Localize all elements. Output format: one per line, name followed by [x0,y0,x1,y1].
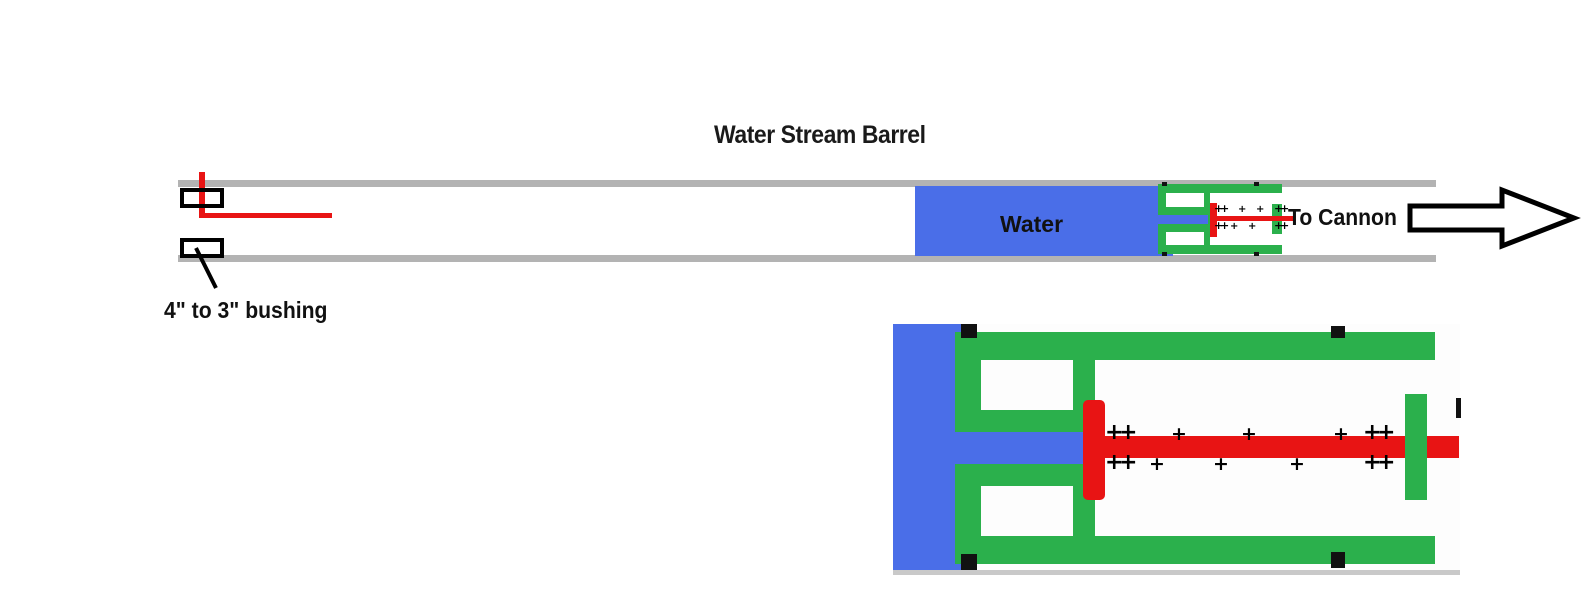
plus-mark: + [1213,455,1229,474]
valve-tick [1254,252,1259,256]
plus-mark: + [1333,425,1349,444]
plus-mark: + [1149,455,1165,474]
valve-green-top [1158,184,1282,193]
leader-line-icon [180,244,240,294]
magnified-valve-detail: + + + + + + + + + + + + + + [893,324,1460,572]
piston-valve-assembly: + + + + + + + + + + + + [1150,182,1290,256]
plus-mark: + [1248,222,1256,232]
plus-mark: + [1171,425,1187,444]
detail-green-shelf-top [955,410,1087,432]
detail-edge-tick [1456,398,1461,418]
diagram-canvas: Water Stream Barrel Water 4" to 3" bushi… [0,0,1586,616]
plus-mark: + [1119,452,1137,474]
plus-mark: + [1256,205,1264,215]
detail-channel-top [981,360,1073,410]
valve-tick [1162,252,1167,256]
valve-channel-top [1166,193,1204,207]
detail-water-gap [893,432,1089,464]
barrel-wall-bottom [178,255,1436,262]
valve-tick [1162,182,1167,186]
detail-tick [1331,326,1345,338]
detail-green-shelf-bottom [955,464,1087,486]
plus-mark: + [1241,425,1257,444]
detail-green-right-post [1405,394,1427,500]
bushing-label: 4" to 3" bushing [164,297,327,324]
plus-mark: + [1377,422,1395,444]
plus-mark: + [1238,205,1246,215]
plus-mark: + [1220,220,1229,231]
detail-tick [1331,552,1345,568]
plus-mark: + [1377,452,1395,474]
to-cannon-label: To Cannon [1288,204,1397,231]
detail-green-bottom [955,536,1435,564]
detail-green-top [955,332,1435,360]
detail-channel-bottom [981,486,1073,536]
bushing-red-horizontal [199,213,332,218]
plus-mark: + [1220,203,1229,214]
water-label: Water [1000,211,1063,238]
bushing-box-top [180,188,224,208]
diagram-title: Water Stream Barrel [714,121,926,150]
plus-mark: + [1289,455,1305,474]
valve-channel-bottom [1166,232,1204,245]
detail-baseline [893,570,1460,575]
plus-mark: + [1230,222,1238,232]
detail-piston-rod [1083,436,1459,458]
plus-mark: + [1119,422,1137,444]
detail-tick [961,324,977,338]
valve-tick [1254,182,1259,186]
valve-green-bottom [1158,245,1282,254]
valve-water-gap [1150,215,1208,224]
right-arrow-icon [1406,186,1578,250]
